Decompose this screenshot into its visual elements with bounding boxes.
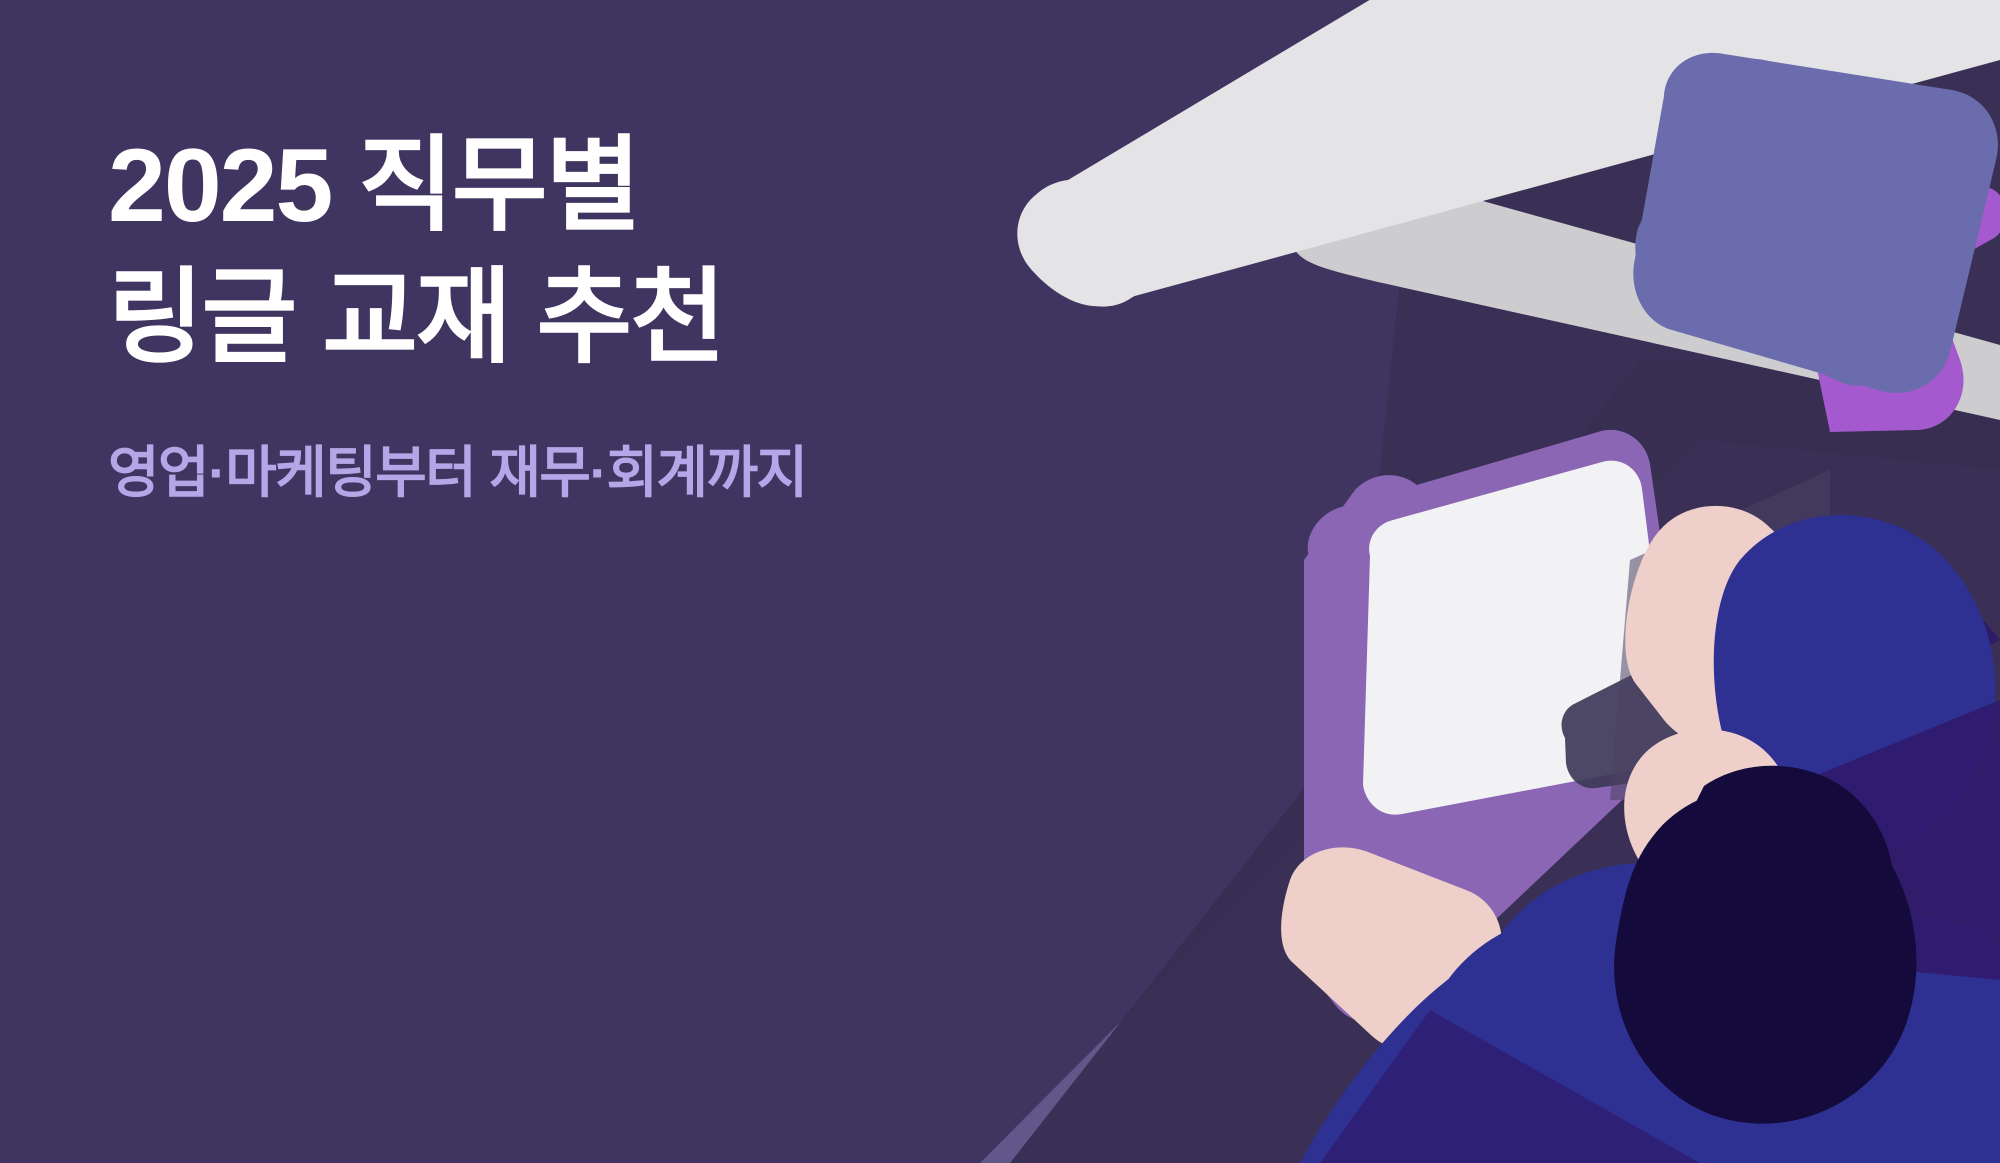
ear-skin [1662,984,1753,1070]
tablet-frame [1291,475,1671,1022]
page-title-line-1: 2025 직무별 [108,120,807,252]
book-purple [1770,88,1964,432]
keyboard-icon [1017,0,2000,420]
shirt-lower-arm [1388,910,1811,1163]
tablet-bezel [1308,430,1691,853]
tablet-screen-glare [1610,470,1830,800]
right-hand [1625,506,1845,747]
hair [1614,786,1916,1124]
person-with-tablet [1281,430,2000,1163]
hair-crown [1673,766,1894,1002]
keyboard-body-2 [1017,0,2000,306]
book-purple-pages [1720,150,2000,352]
shirt-torso [1300,863,2000,1163]
promo-banner: 2025 직무별 링글 교재 추천 영업·마케팅부터 재무·회계까지 [0,0,2000,1163]
book-stack-icon [1633,53,2000,432]
left-hand [1281,847,1502,1049]
desk-floor-shadow [1010,360,2000,1163]
neck-skin [1624,729,1793,897]
accent-triangle [1890,540,2000,700]
book-blue [1635,59,1983,386]
book-blue-cover [1633,53,1998,393]
desk-floor-light [980,440,2000,1163]
page-subtitle: 영업·마케팅부터 재무·회계까지 [108,438,807,508]
background-dark-panel [1370,0,2000,700]
shirt-shadow-2 [1320,1010,1700,1163]
tablet-screen [1562,629,1763,788]
keyboard-shadow [1292,167,2000,420]
page-title-line-2: 링글 교재 추천 [108,252,807,384]
shirt-shadow [1756,700,2000,980]
shirt-upper-arm [1714,515,1996,853]
keyboard-body [1021,0,1700,307]
tablet-page [1363,461,1672,815]
headline-block: 2025 직무별 링글 교재 추천 영업·마케팅부터 재무·회계까지 [108,120,807,508]
